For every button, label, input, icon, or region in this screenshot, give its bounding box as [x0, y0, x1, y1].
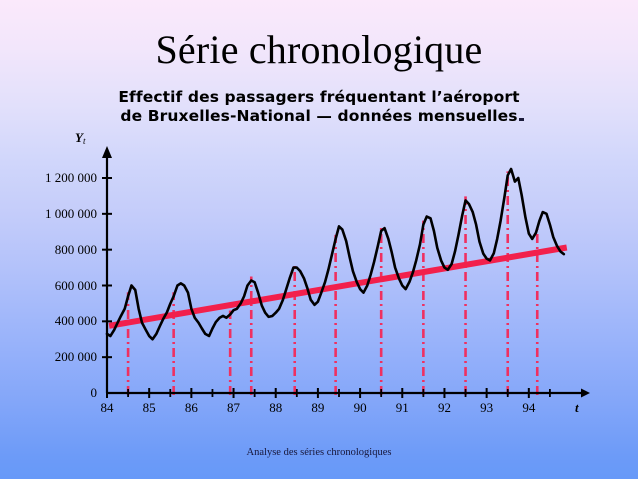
x-tick-label-1: 85	[135, 400, 163, 416]
slide: Série chronologique Effectif des passage…	[0, 0, 638, 479]
x-tick-label-2: 86	[177, 400, 205, 416]
x-tick-label-0: 84	[93, 400, 121, 416]
x-tick-label-9: 93	[473, 400, 501, 416]
x-axis-name: t	[575, 400, 579, 416]
annotation-lines-group	[128, 171, 537, 395]
x-tick-label-4: 88	[262, 400, 290, 416]
x-tick-label-3: 87	[220, 400, 248, 416]
slide-footer: Analyse des séries chronologiques	[0, 447, 638, 458]
y-tick-label-3: 600 000	[0, 278, 97, 294]
y-tick-label-6: 1 200 000	[0, 170, 97, 186]
y-axis-name-subscript: t	[83, 136, 86, 146]
axes-group	[102, 146, 590, 398]
y-tick-label-4: 800 000	[0, 242, 97, 258]
x-tick-label-7: 91	[388, 400, 416, 416]
y-tick-label-5: 1 000 000	[0, 206, 97, 222]
timeseries-chart: 0200 000400 000600 000800 0001 000 0001 …	[0, 0, 638, 440]
x-tick-label-6: 90	[346, 400, 374, 416]
y-tick-label-1: 200 000	[0, 349, 97, 365]
y-tick-label-0: 0	[0, 385, 97, 401]
y-axis-arrow	[102, 146, 112, 158]
y-axis-name-text: Y	[75, 130, 83, 145]
x-tick-label-8: 92	[430, 400, 458, 416]
y-tick-label-2: 400 000	[0, 313, 97, 329]
x-tick-label-5: 89	[304, 400, 332, 416]
x-tick-label-10: 94	[515, 400, 543, 416]
x-axis-arrow	[581, 389, 590, 398]
y-axis-name: Yt	[75, 130, 85, 146]
